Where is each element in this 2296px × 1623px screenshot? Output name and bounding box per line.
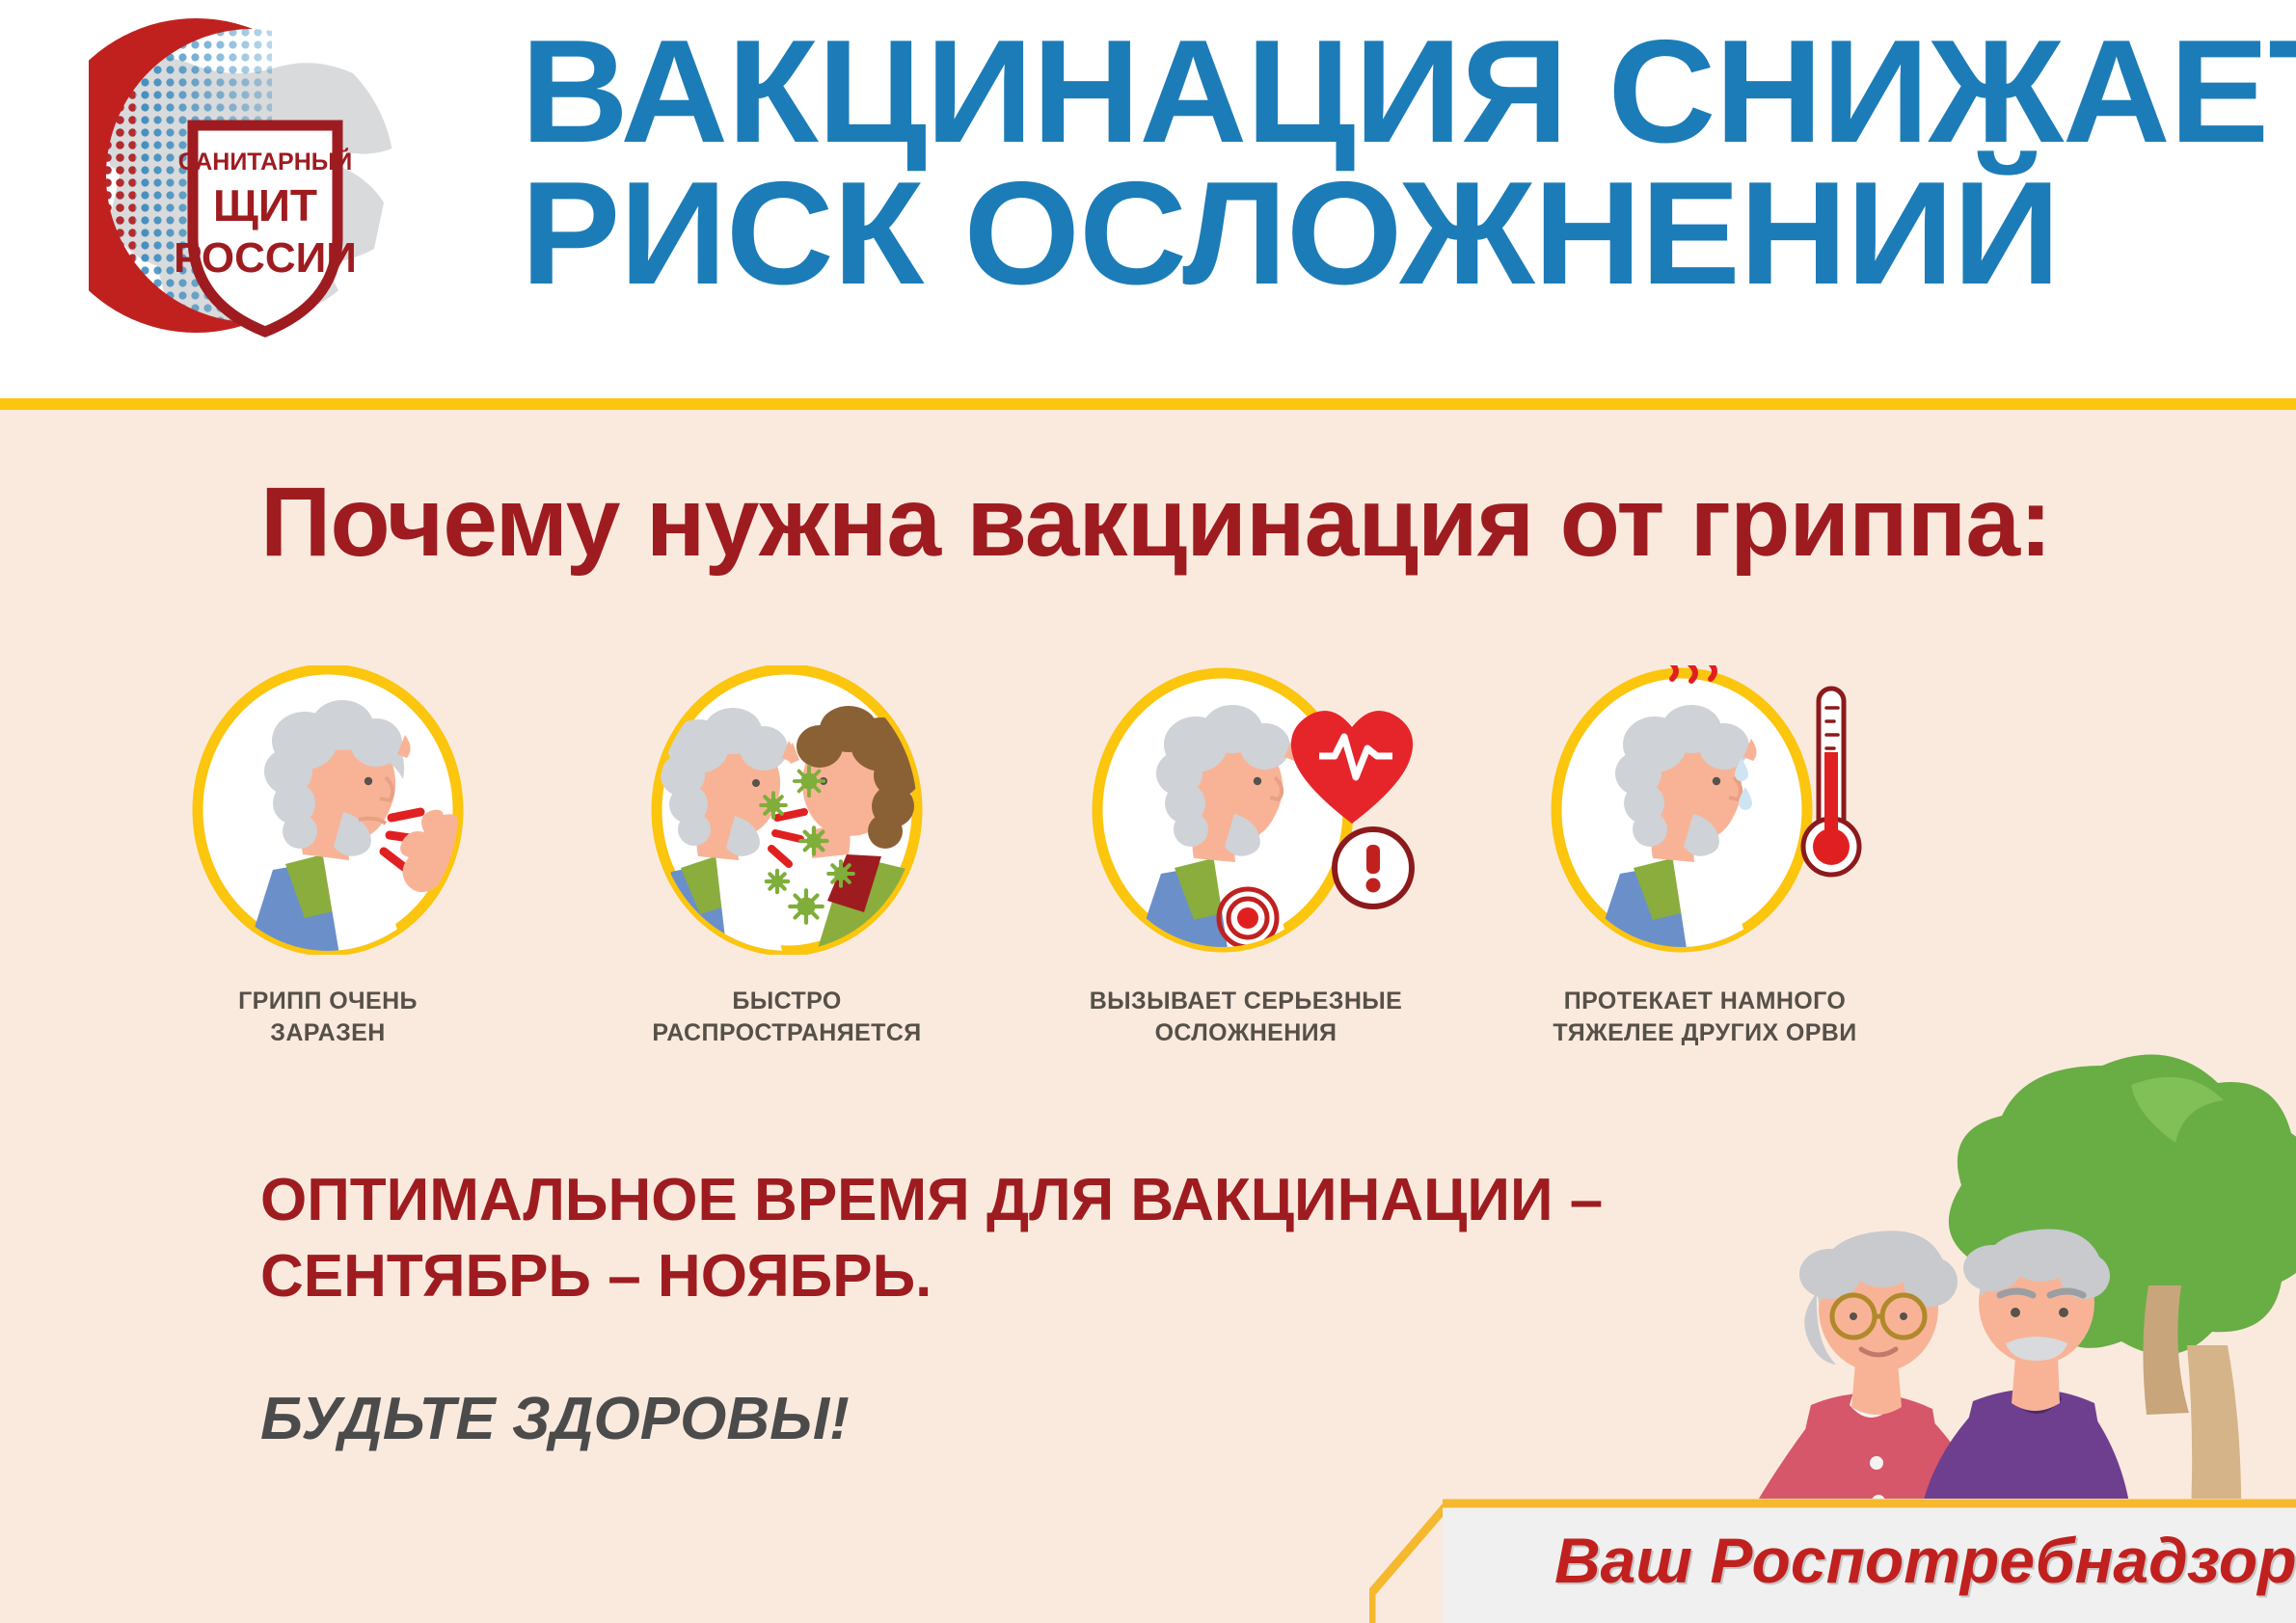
cta-block: ОПТИМАЛЬНОЕ ВРЕМЯ ДЛЯ ВАКЦИНАЦИИ – СЕНТЯ… [260,1162,1533,1453]
elderly-man-coughing-icon [116,665,540,955]
fever-thermometer-icon [1493,665,1917,955]
reason-item-spreads-fast: БЫСТРО РАСПРОСТРАНЯЕТСЯ [575,665,999,1049]
glasses-icon [1832,1295,1925,1338]
cta-line-1: ОПТИМАЛЬНОЕ ВРЕМЯ ДЛЯ ВАКЦИНАЦИИ – [260,1162,1533,1238]
reason-caption: БЫСТРО РАСПРОСТРАНЯЕТСЯ [575,986,999,1049]
logo-line1: САНИТАРНЫЙ [178,147,352,176]
reason-caption: ГРИПП ОЧЕНЬ ЗАРАЗЕН [116,986,540,1049]
section-heading: Почему нужна вакцинация от гриппа: [260,473,2051,571]
footer-banner: Ваш Роспотребнадзор [1443,1499,2296,1623]
poster-root: САНИТАРНЫЙ ЩИТ РОССИИ ВАКЦИНАЦИЯ СНИЖАЕТ… [0,0,2296,1623]
cta-be-healthy: БУДЬТЕ ЗДОРОВЫ! [260,1385,1533,1453]
logo-line3: РОССИИ [174,234,357,282]
logo-line2: ЩИТ [213,180,317,230]
cta-line-2: СЕНТЯБРЬ – НОЯБРЬ. [260,1238,1533,1314]
reason-item-complications: ВЫЗЫВАЕТ СЕРЬЕЗНЫЕ ОСЛОЖНЕНИЯ [1034,665,1458,1049]
reason-caption: ВЫЗЫВАЕТ СЕРЬЕЗНЫЕ ОСЛОЖНЕНИЯ [1034,986,1458,1049]
heart-complication-alert-icon [1034,665,1458,955]
title-line-1: ВАКЦИНАЦИЯ СНИЖАЕТ [521,21,2272,163]
reasons-row: ГРИПП ОЧЕНЬ ЗАРАЗЕН [116,665,1909,1070]
logo-sanitary-shield: САНИТАРНЫЙ ЩИТ РОССИИ [89,14,407,341]
header-gold-divider [0,398,2296,410]
reason-item-contagious: ГРИПП ОЧЕНЬ ЗАРАЗЕН [116,665,540,1049]
poster-title: ВАКЦИНАЦИЯ СНИЖАЕТ РИСК ОСЛОЖНЕНИЙ [521,21,2237,306]
thermometer-icon [1803,689,1859,875]
alert-exclamation-icon [1335,829,1412,906]
two-people-virus-spread-icon [575,665,999,955]
shield-emblem-icon: САНИТАРНЫЙ ЩИТ РОССИИ [89,14,407,341]
reason-item-severe: ПРОТЕКАЕТ НАМНОГО ТЯЖЕЛЕЕ ДРУГИХ ОРВИ [1493,665,1917,1049]
tree-canopy-icon [1949,1054,2296,1415]
rospotrebnadzor-signature: Ваш Роспотребнадзор [1554,1524,2296,1597]
reason-caption: ПРОТЕКАЕТ НАМНОГО ТЯЖЕЛЕЕ ДРУГИХ ОРВИ [1493,986,1917,1049]
title-line-2: РИСК ОСЛОЖНЕНИЙ [521,163,2272,305]
poster-body: Почему нужна вакцинация от гриппа: [0,410,2296,1623]
